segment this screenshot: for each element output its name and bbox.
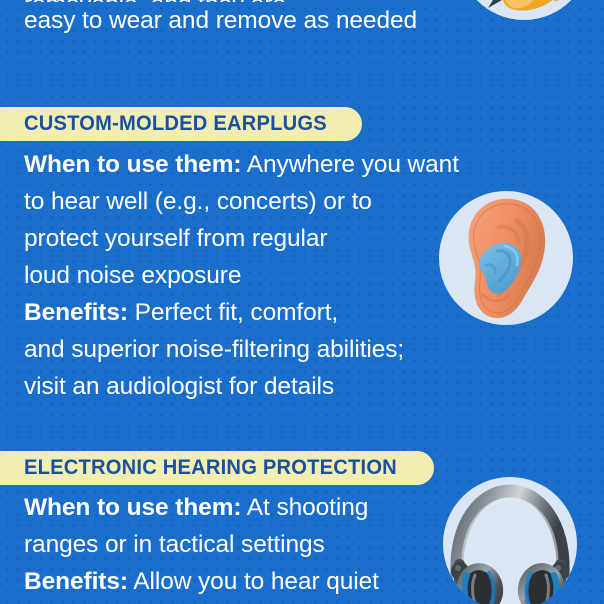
- when-to-use-line-2: to hear well (e.g., concerts) or to: [24, 188, 372, 215]
- when-to-use-line-1: At shooting: [241, 494, 368, 521]
- ear-with-custom-earplug-icon: [439, 191, 573, 325]
- text-line: and superior noise-filtering abilities;: [24, 331, 494, 368]
- text-line: Benefits: Allow you to hear quiet: [24, 563, 454, 600]
- when-to-use-line-3: protect yourself from regular: [24, 225, 327, 252]
- body-text-electronic-protection: When to use them: At shooting ranges or …: [24, 489, 454, 600]
- benefits-label: Benefits:: [24, 568, 128, 595]
- visible-text-line: easy to wear and remove as needed: [24, 2, 544, 39]
- when-to-use-line-4: loud noise exposure: [24, 262, 241, 289]
- when-to-use-line-1: Anywhere you want: [241, 151, 458, 178]
- infographic-page: removable, and they are easy to wear and…: [0, 0, 604, 604]
- heading-pill-custom-molded: CUSTOM-MOLDED EARPLUGS: [0, 107, 362, 141]
- benefits-line-1: Perfect fit, comfort,: [128, 299, 338, 326]
- body-text-custom-molded: When to use them: Anywhere you want to h…: [24, 146, 494, 405]
- text-line: Benefits: Perfect fit, comfort,: [24, 294, 494, 331]
- heading-pill-electronic-protection: ELECTRONIC HEARING PROTECTION: [0, 451, 434, 485]
- visible-line-text: easy to wear and remove as needed: [24, 7, 417, 34]
- ear-illustration: [439, 191, 573, 325]
- text-line: ranges or in tactical settings: [24, 526, 454, 563]
- heading-text-electronic-protection: ELECTRONIC HEARING PROTECTION: [24, 456, 397, 480]
- previous-section-partial-text: removable, and they are easy to wear and…: [24, 0, 544, 39]
- headphones-illustration: [443, 477, 577, 604]
- text-line: When to use them: At shooting: [24, 489, 454, 526]
- text-line: When to use them: Anywhere you want: [24, 146, 494, 183]
- benefits-label: Benefits:: [24, 299, 128, 326]
- text-line: to hear well (e.g., concerts) or to: [24, 183, 494, 220]
- text-line: loud noise exposure: [24, 257, 494, 294]
- benefits-line-2: and superior noise-filtering abilities;: [24, 336, 404, 363]
- when-to-use-label: When to use them:: [24, 151, 241, 178]
- heading-text-custom-molded: CUSTOM-MOLDED EARPLUGS: [24, 112, 327, 136]
- when-to-use-line-2: ranges or in tactical settings: [24, 531, 325, 558]
- benefits-line-1: Allow you to hear quiet: [128, 568, 379, 595]
- benefits-line-3: visit an audiologist for details: [24, 373, 334, 400]
- text-line: protect yourself from regular: [24, 220, 494, 257]
- text-line: visit an audiologist for details: [24, 368, 494, 405]
- over-ear-headphones-icon: [443, 477, 577, 604]
- when-to-use-label: When to use them:: [24, 494, 241, 521]
